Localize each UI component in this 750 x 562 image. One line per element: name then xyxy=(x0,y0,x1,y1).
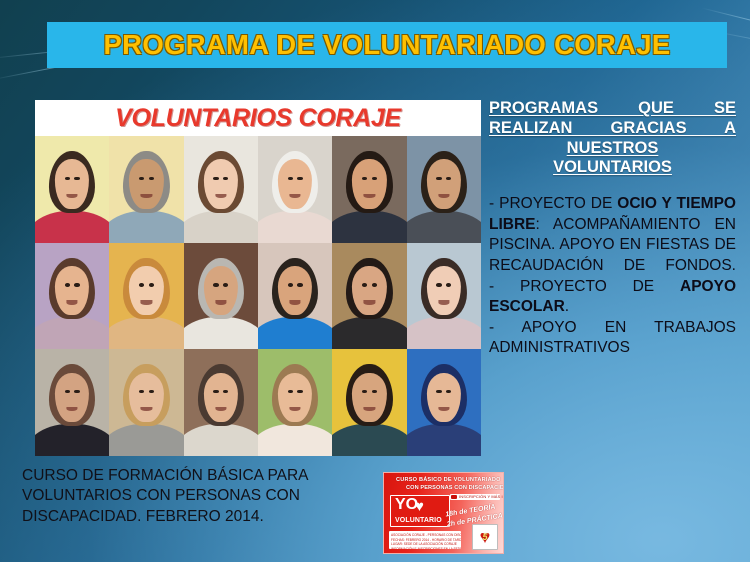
poster-info-bar-text: INSCRIPCIÓN Y MÁS INFORMACIÓN xyxy=(459,494,504,499)
photo-eye-left xyxy=(436,283,441,287)
collage-photo xyxy=(258,136,332,243)
program-item-2: - PROYECTO DE APOYO ESCOLAR. xyxy=(489,277,736,318)
photo-shoulders xyxy=(332,317,406,349)
photo-eye-right xyxy=(297,177,302,181)
photo-eye-left xyxy=(288,177,293,181)
volunteers-photo-collage: VOLUNTARIOS CORAJE xyxy=(35,100,481,456)
poster-line-1: CURSO BÁSICO DE VOLUNTARIADO xyxy=(396,477,497,483)
photo-eye-left xyxy=(436,177,441,181)
programs-heading-line-3: NUESTROS xyxy=(489,139,736,159)
program-item-3: - APOYO EN TRABAJOS ADMINISTRATIVOS xyxy=(489,318,736,359)
program-item-2-tail: . xyxy=(565,298,569,315)
program-item-1-lead: PROYECTO DE xyxy=(499,195,617,212)
collage-photo xyxy=(407,243,481,350)
collage-photo xyxy=(332,136,406,243)
collage-photo xyxy=(184,136,258,243)
photo-eye-right xyxy=(446,283,451,287)
ticket-icon xyxy=(451,495,457,499)
photo-shoulders xyxy=(407,317,481,349)
poster-footer-line: INFORMACIÓN E INSCRIPCIONES EN LA SEDE xyxy=(391,547,459,549)
photo-shoulders xyxy=(109,317,183,349)
poster-footer-line: ASOCIACIÓN CORAJE - PERSONAS CON DISCAPA… xyxy=(391,533,459,538)
photo-eye-left xyxy=(65,177,70,181)
collage-photo xyxy=(109,349,183,456)
poster-logo: ♥ 5 xyxy=(472,524,498,550)
slide-title: PROGRAMA DE VOLUNTARIADO CORAJE xyxy=(104,29,671,61)
programs-list: - PROYECTO DE OCIO Y TIEMPO LIBRE: ACOMP… xyxy=(489,194,736,359)
programs-heading-line-2: REALIZAN GRACIAS A xyxy=(489,119,736,139)
poster-voluntario-text: VOLUNTARIO xyxy=(395,517,442,524)
collage-photo xyxy=(35,349,109,456)
slide-title-banner: PROGRAMA DE VOLUNTARIADO CORAJE xyxy=(47,22,727,68)
photo-eye-right xyxy=(372,177,377,181)
photo-eye-right xyxy=(223,283,228,287)
photo-shoulders xyxy=(184,317,258,349)
collage-photo xyxy=(109,136,183,243)
photo-shoulders xyxy=(332,424,406,456)
program-item-1: - PROYECTO DE OCIO Y TIEMPO LIBRE: ACOMP… xyxy=(489,194,736,276)
collage-photo xyxy=(332,349,406,456)
collage-photo xyxy=(258,243,332,350)
programs-heading: PROGRAMAS QUE SE REALIZAN GRACIAS A NUES… xyxy=(489,99,736,178)
photo-eye-left xyxy=(65,283,70,287)
poster-logo-text: 5 xyxy=(482,532,487,542)
photo-shoulders xyxy=(407,211,481,243)
collage-photo xyxy=(184,243,258,350)
photo-eye-left xyxy=(362,283,367,287)
photo-shoulders xyxy=(35,211,109,243)
photo-eye-left xyxy=(213,177,218,181)
photo-shoulders xyxy=(258,211,332,243)
photo-shoulders xyxy=(407,424,481,456)
photo-eye-left xyxy=(288,283,293,287)
photo-eye-right xyxy=(74,283,79,287)
heart-icon: ♥ xyxy=(415,499,424,514)
photo-shoulders xyxy=(332,211,406,243)
collage-photo xyxy=(332,243,406,350)
collage-title-bar: VOLUNTARIOS CORAJE xyxy=(35,100,481,136)
programs-heading-line-1: PROGRAMAS QUE SE xyxy=(489,99,736,119)
program-item-2-lead: PROYECTO DE xyxy=(520,278,680,295)
photo-eye-right xyxy=(297,283,302,287)
collage-photo xyxy=(35,243,109,350)
poster-footer-details: ASOCIACIÓN CORAJE - PERSONAS CON DISCAPA… xyxy=(389,531,461,549)
photo-eye-right xyxy=(149,283,154,287)
photo-shoulders xyxy=(184,424,258,456)
course-caption: CURSO DE FORMACIÓN BÁSICA PARA VOLUNTARI… xyxy=(22,466,377,527)
program-item-1-dash: - xyxy=(489,195,494,212)
photo-eye-right xyxy=(74,177,79,181)
program-item-3-lead: APOYO EN TRABAJOS ADMINISTRATIVOS xyxy=(489,319,736,357)
poster-yo-voluntario-badge: YO ♥ VOLUNTARIO xyxy=(390,495,450,527)
photo-shoulders xyxy=(35,424,109,456)
program-item-2-dash: - xyxy=(489,278,494,295)
collage-photo xyxy=(258,349,332,456)
photo-eye-left xyxy=(213,283,218,287)
photo-shoulders xyxy=(258,317,332,349)
collage-photo xyxy=(407,136,481,243)
course-poster: CURSO BÁSICO DE VOLUNTARIADO CON PERSONA… xyxy=(383,472,504,554)
collage-photo xyxy=(109,243,183,350)
photo-eye-left xyxy=(139,283,144,287)
photo-eye-right xyxy=(149,177,154,181)
photo-shoulders xyxy=(258,424,332,456)
photo-shoulders xyxy=(109,211,183,243)
programs-text-column: PROGRAMAS QUE SE REALIZAN GRACIAS A NUES… xyxy=(489,99,736,359)
programs-heading-line-4: VOLUNTARIOS xyxy=(489,158,736,178)
photo-shoulders xyxy=(109,424,183,456)
collage-photo xyxy=(407,349,481,456)
photo-eye-right xyxy=(372,283,377,287)
poster-line-2: CON PERSONAS CON DISCAPACIDAD xyxy=(406,485,499,491)
poster-info-bar: INSCRIPCIÓN Y MÁS INFORMACIÓN xyxy=(450,494,500,500)
presentation-slide: PROGRAMA DE VOLUNTARIADO CORAJE VOLUNTAR… xyxy=(0,0,750,562)
collage-title: VOLUNTARIOS CORAJE xyxy=(115,104,401,133)
photo-shoulders xyxy=(35,317,109,349)
collage-photo xyxy=(35,136,109,243)
collage-photo xyxy=(184,349,258,456)
program-item-3-dash: - xyxy=(489,319,494,336)
photo-shoulders xyxy=(184,211,258,243)
photo-grid xyxy=(35,136,481,456)
